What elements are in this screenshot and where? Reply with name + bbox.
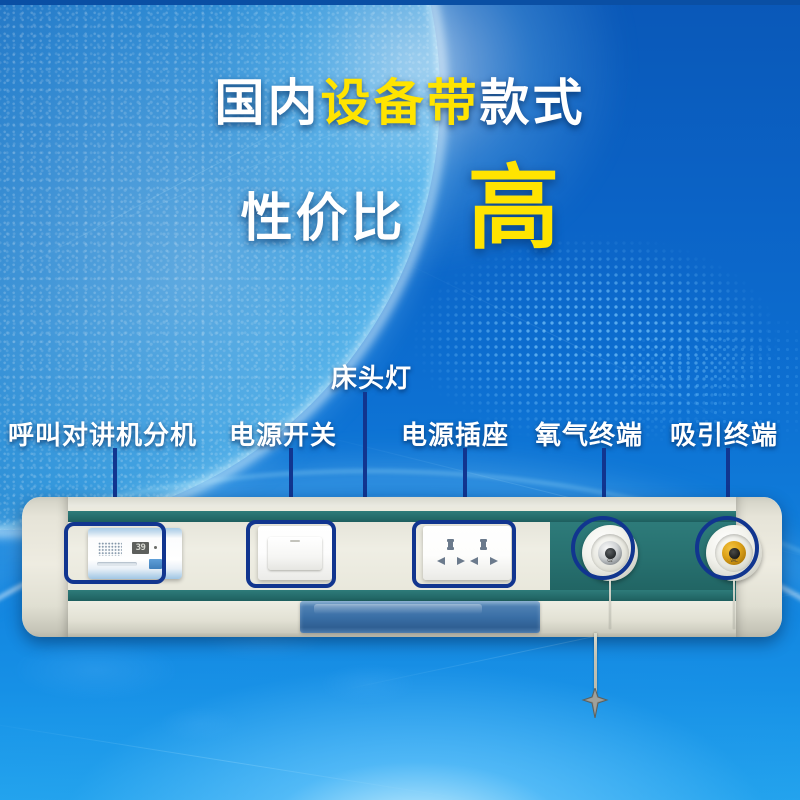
highlight-power-switch	[246, 520, 336, 588]
callout-label-suction-terminal: 吸引终端	[670, 415, 778, 452]
suction-terminal-cord	[733, 577, 735, 629]
oxygen-terminal-cord	[609, 577, 611, 629]
bed-lamp-strip[interactable]	[300, 601, 540, 633]
callout-label-oxygen-terminal: 氧气终端	[535, 415, 643, 452]
callout-label-bed-lamp: 床头灯	[331, 358, 412, 395]
pull-cord-connector[interactable]	[578, 688, 612, 718]
highlight-suction-terminal	[695, 516, 759, 580]
highlight-oxygen-terminal	[571, 516, 635, 580]
callout-label-power-socket: 电源插座	[401, 415, 509, 452]
pull-cord[interactable]	[594, 633, 597, 695]
callout-label-nurse-call-intercom: 呼叫对讲机分机	[8, 415, 197, 452]
highlight-nurse-call-intercom	[64, 522, 166, 584]
cross-connector-icon	[578, 688, 612, 718]
panel-lower-shell-right	[540, 601, 738, 633]
panel-stripe-bottom	[66, 590, 738, 601]
panel-lower-shell-left	[66, 601, 300, 633]
panel-end-cap-left	[22, 497, 68, 637]
highlight-power-socket	[412, 520, 516, 588]
callout-label-power-switch: 电源开关	[229, 415, 337, 452]
callout-labels: 呼叫对讲机分机 电源开关 床头灯 电源插座 氧气终端 吸引终端	[0, 0, 800, 800]
panel-stripe-top	[66, 511, 738, 522]
